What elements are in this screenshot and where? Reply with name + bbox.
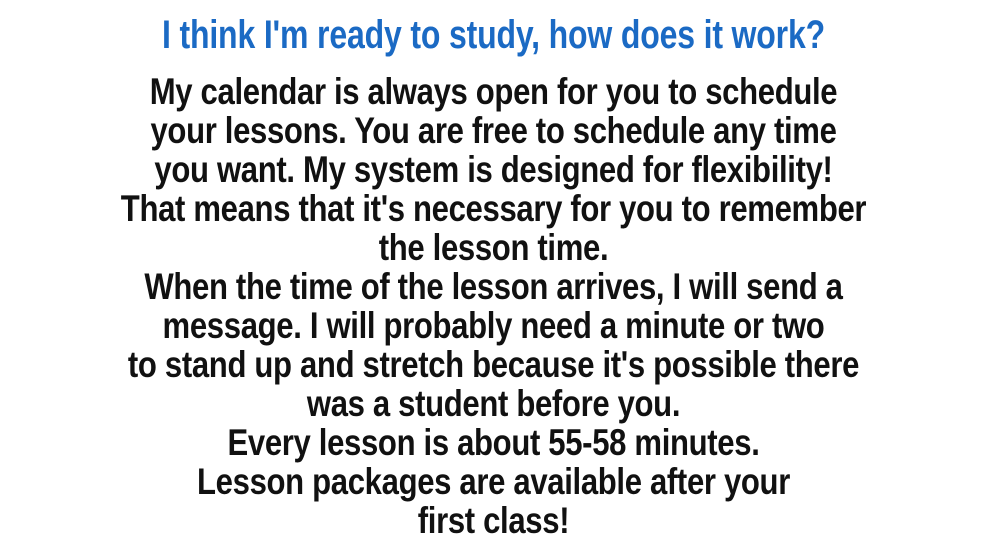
body-line: the lesson time. bbox=[79, 228, 908, 267]
body-line: Lesson packages are available after your bbox=[79, 462, 908, 501]
page-title: I think I'm ready to study, how does it … bbox=[99, 13, 889, 57]
body-line: was a student before you. bbox=[79, 384, 908, 423]
body-line: to stand up and stretch because it's pos… bbox=[79, 345, 908, 384]
body-line: That means that it's necessary for you t… bbox=[79, 189, 908, 228]
body-line: My calendar is always open for you to sc… bbox=[79, 72, 908, 111]
poster-body-text: My calendar is always open for you to sc… bbox=[0, 72, 987, 540]
body-line: Every lesson is about 55-58 minutes. bbox=[79, 423, 908, 462]
body-line: message. I will probably need a minute o… bbox=[79, 306, 908, 345]
body-line: you want. My system is designed for flex… bbox=[79, 150, 908, 189]
body-line: When the time of the lesson arrives, I w… bbox=[79, 267, 908, 306]
body-line: first class! bbox=[79, 501, 908, 540]
poster-slide: I think I'm ready to study, how does it … bbox=[0, 0, 987, 554]
body-line: your lessons. You are free to schedule a… bbox=[79, 111, 908, 150]
